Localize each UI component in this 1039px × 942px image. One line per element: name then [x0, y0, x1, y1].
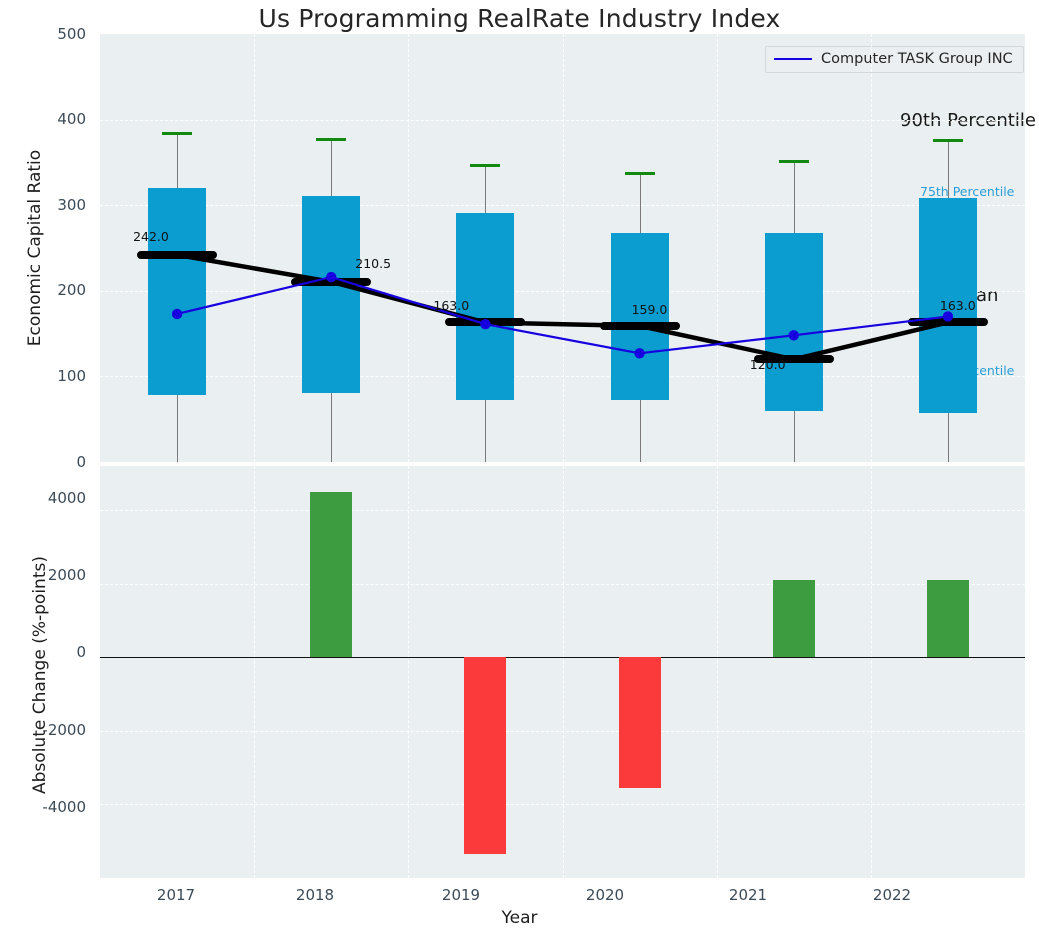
xtick-2021: 2021: [703, 886, 793, 904]
ytick-top-0: 0: [0, 453, 86, 471]
gridline-v-bot-2: [408, 466, 409, 878]
median-label-2022: 163.0: [940, 298, 976, 313]
company-point-2017: [172, 309, 182, 319]
ytick-bot-4000: 4000: [0, 489, 86, 507]
company-point-2021: [789, 330, 799, 340]
change-bar-2020: [619, 657, 661, 788]
ytick-top-100: 100: [0, 367, 86, 385]
xtick-2017: 2017: [131, 886, 221, 904]
top-axis-label: Economic Capital Ratio: [25, 138, 45, 358]
change-bar-2018: [310, 492, 352, 658]
company-line-layer: [100, 34, 1025, 462]
xtick-2022: 2022: [847, 886, 937, 904]
gridline-v-bot-1: [254, 466, 255, 878]
company-line: [177, 277, 948, 353]
median-label-2018: 210.5: [355, 256, 391, 271]
xtick-2019: 2019: [416, 886, 506, 904]
change-bar-2021: [773, 580, 815, 657]
median-label-2019: 163.0: [433, 298, 469, 313]
chart-root: Us Programming RealRate Industry Index 0…: [0, 0, 1039, 942]
company-point-2020: [634, 348, 644, 358]
gridline-v-bot-3: [563, 466, 564, 878]
change-bar-2022: [927, 580, 969, 657]
xtick-2020: 2020: [560, 886, 650, 904]
company-point-2019: [480, 319, 490, 329]
gridline-v-bot-5: [871, 466, 872, 878]
ytick-top-400: 400: [0, 110, 86, 128]
xtick-2018: 2018: [270, 886, 360, 904]
zero-line: [100, 657, 1025, 658]
bottom-axis-label: Absolute Change (%-points): [30, 525, 50, 825]
ytick-top-500: 500: [0, 25, 86, 43]
chart-title: Us Programming RealRate Industry Index: [0, 4, 1039, 33]
x-axis-label: Year: [0, 908, 1039, 928]
change-bar-2019: [464, 657, 506, 854]
company-point-2018: [326, 272, 336, 282]
median-label-2020: 159.0: [632, 302, 668, 317]
median-label-2017: 242.0: [133, 229, 169, 244]
median-label-2021: 120.0: [750, 357, 786, 372]
gridline-v-bot-4: [717, 466, 718, 878]
